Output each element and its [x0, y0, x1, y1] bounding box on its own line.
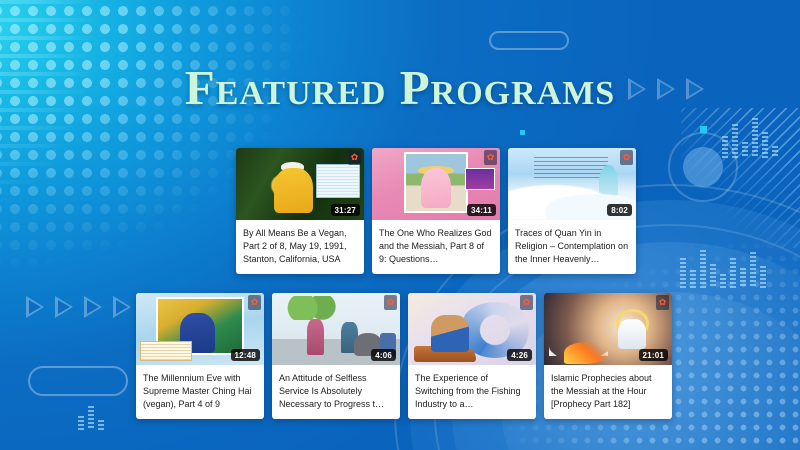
play-triangle-icon: [26, 296, 44, 318]
program-card[interactable]: ✿ 4:26 The Experience of Switching from …: [408, 293, 536, 419]
program-card[interactable]: ✿ 12:48 The Millennium Eve with Supreme …: [136, 293, 264, 419]
duration-badge: 4:26: [507, 349, 532, 361]
duration-badge: 21:01: [639, 349, 668, 361]
duration-badge: 12:48: [231, 349, 260, 361]
program-title: An Attitude of Selfless Service Is Absol…: [272, 365, 400, 419]
halftone-square-pattern: [0, 0, 156, 282]
channel-logo-icon: ✿: [484, 150, 497, 165]
program-title: By All Means Be a Vegan, Part 2 of 8, Ma…: [236, 220, 364, 274]
pill-outline-top: [489, 31, 569, 50]
equalizer-bars-top-right: [722, 118, 778, 158]
program-thumbnail[interactable]: ✿ 4:06: [272, 293, 400, 365]
page-title: Featured Programs: [0, 63, 800, 112]
equalizer-bars-bottom-left: [78, 406, 104, 430]
channel-logo-icon: ✿: [248, 295, 261, 310]
program-card[interactable]: ✿ 4:06 An Attitude of Selfless Service I…: [272, 293, 400, 419]
duration-badge: 31:27: [331, 204, 360, 216]
slide-canvas: Featured Programs ✿ 31:27 By All Means B…: [0, 0, 800, 450]
channel-logo-icon: ✿: [656, 295, 669, 310]
program-title: The One Who Realizes God and the Messiah…: [372, 220, 500, 274]
program-card[interactable]: ✿ 21:01 Islamic Prophecies about the Mes…: [544, 293, 672, 419]
accent-square: [700, 126, 707, 133]
program-thumbnail[interactable]: ✿ 12:48: [136, 293, 264, 365]
accent-square: [520, 130, 525, 135]
duration-badge: 8:02: [607, 204, 632, 216]
featured-row-2: ✿ 12:48 The Millennium Eve with Supreme …: [136, 293, 672, 419]
program-thumbnail[interactable]: ✿ 34:11: [372, 148, 500, 220]
play-triangle-icon: [55, 296, 73, 318]
program-card[interactable]: ✿ 8:02 Traces of Quan Yin in Religion – …: [508, 148, 636, 274]
duration-badge: 34:11: [467, 204, 496, 216]
program-thumbnail[interactable]: ✿ 4:26: [408, 293, 536, 365]
channel-logo-icon: ✿: [384, 295, 397, 310]
channel-logo-icon: ✿: [520, 295, 533, 310]
channel-logo-icon: ✿: [620, 150, 633, 165]
program-thumbnail[interactable]: ✿ 31:27: [236, 148, 364, 220]
equalizer-bars-mid-right: [680, 250, 766, 288]
pill-outline-bottom: [28, 366, 128, 396]
program-title: Traces of Quan Yin in Religion – Contemp…: [508, 220, 636, 274]
program-card[interactable]: ✿ 31:27 By All Means Be a Vegan, Part 2 …: [236, 148, 364, 274]
program-title: The Millennium Eve with Supreme Master C…: [136, 365, 264, 419]
program-thumbnail[interactable]: ✿ 8:02: [508, 148, 636, 220]
featured-row-1: ✿ 31:27 By All Means Be a Vegan, Part 2 …: [236, 148, 636, 274]
play-triangle-icon: [84, 296, 102, 318]
diagonal-hatch-pattern: [681, 108, 800, 248]
channel-logo-icon: ✿: [348, 150, 361, 165]
program-title: The Experience of Switching from the Fis…: [408, 365, 536, 419]
duration-badge: 4:06: [371, 349, 396, 361]
program-thumbnail[interactable]: ✿ 21:01: [544, 293, 672, 365]
program-title: Islamic Prophecies about the Messiah at …: [544, 365, 672, 419]
program-card[interactable]: ✿ 34:11 The One Who Realizes God and the…: [372, 148, 500, 274]
circle-orb-icon: [668, 132, 738, 202]
play-triangle-icon: [113, 296, 131, 318]
